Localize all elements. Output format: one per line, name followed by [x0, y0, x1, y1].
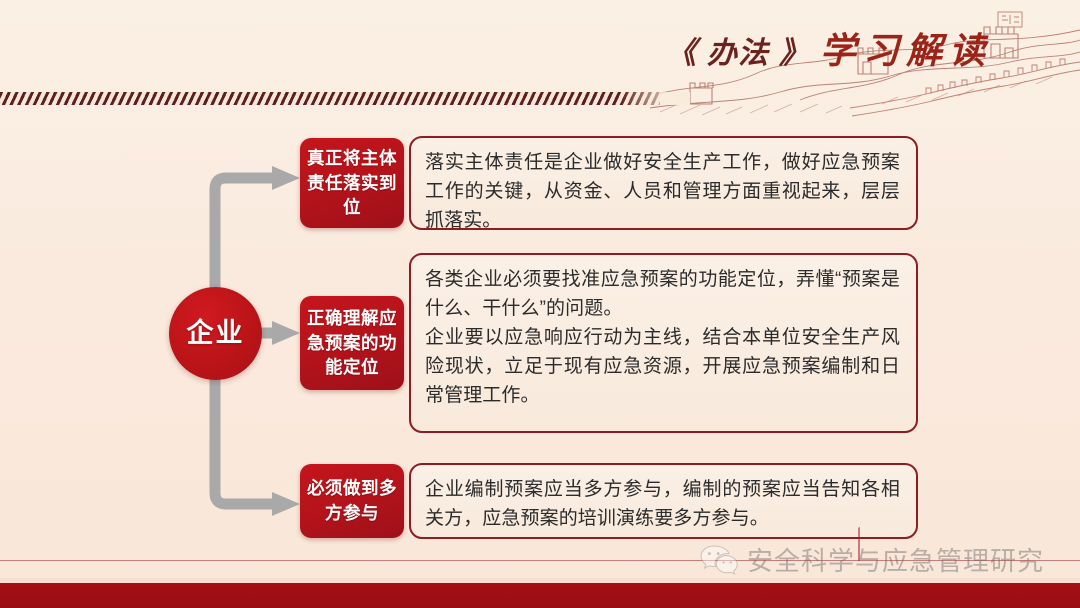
chip-row-2[interactable]: 正确理解应急预案的功能定位	[300, 296, 404, 390]
title-bracket-close: 》	[779, 28, 810, 72]
content-panel-2: 各类企业必须要找准应急预案的功能定位，弄懂“预案是什么、干什么”的问题。 企业要…	[409, 253, 918, 433]
panel-3-paragraph-1: 企业编制预案应当多方参与，编制的预案应当告知各相关方，应急预案的培训演练要多方参…	[425, 476, 900, 534]
title-main: 学习解读	[820, 22, 992, 74]
content-panel-1: 落实主体责任是企业做好安全生产工作，做好应急预案工作的关键，从资金、人员和管理方…	[409, 136, 918, 230]
chip-row-1[interactable]: 真正将主体责任落实到位	[300, 138, 404, 228]
panel-2-paragraph-2: 企业要以应急响应行动为主线，结合本单位安全生产风险现状，立足于现有应急资源，开展…	[425, 324, 900, 411]
chip-label-3: 必须做到多方参与	[304, 476, 400, 526]
watermark-text: 安全科学与应急管理研究	[747, 541, 1044, 578]
panel-1-paragraph-1: 落实主体责任是企业做好安全生产工作，做好应急预案工作的关键，从资金、人员和管理方…	[425, 149, 900, 236]
hatched-divider	[0, 92, 660, 105]
slide-header: 《 办法 》 学习解读	[0, 0, 1080, 118]
chip-label-1: 真正将主体责任落实到位	[304, 146, 400, 221]
title-bracket-open: 《	[666, 28, 697, 72]
wechat-icon	[700, 544, 738, 576]
watermark: 安全科学与应急管理研究	[700, 541, 1044, 578]
hub-node-enterprise[interactable]: 企业	[169, 287, 262, 380]
title-inner: 办法	[707, 28, 769, 72]
footer-bar	[0, 583, 1080, 608]
hub-label: 企业	[187, 320, 245, 347]
divider-fade	[620, 92, 690, 105]
panel-2-paragraph-1: 各类企业必须要找准应急预案的功能定位，弄懂“预案是什么、干什么”的问题。	[425, 266, 900, 324]
content-panel-3: 企业编制预案应当多方参与，编制的预案应当告知各相关方，应急预案的培训演练要多方参…	[409, 463, 918, 539]
page-title: 《 办法 》 学习解读	[666, 22, 992, 74]
chip-label-2: 正确理解应急预案的功能定位	[304, 306, 400, 381]
chip-row-3[interactable]: 必须做到多方参与	[300, 464, 404, 538]
slide-canvas: 《 办法 》 学习解读	[0, 0, 1080, 608]
